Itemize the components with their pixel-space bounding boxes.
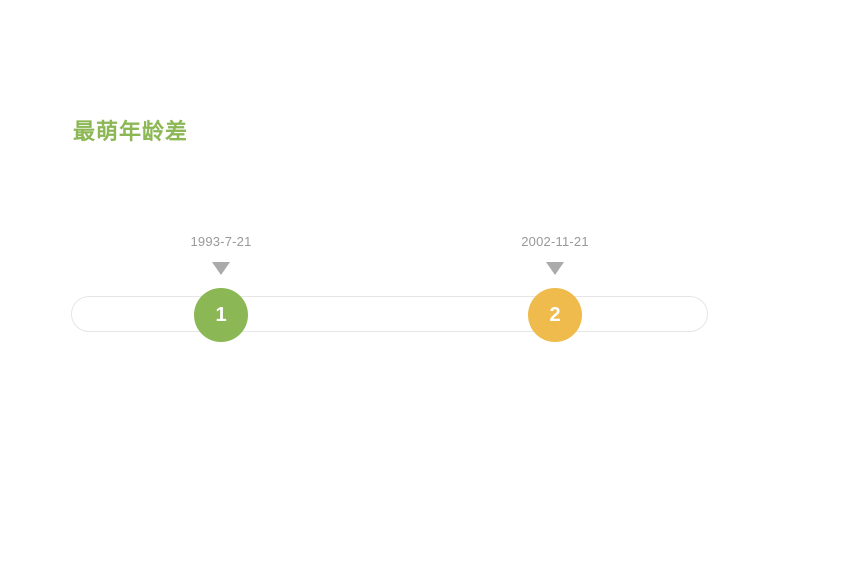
timeline-marker-2-dot[interactable]: 2 [528,288,582,342]
timeline-marker-2-date: 2002-11-21 [521,234,589,250]
timeline-marker-1-dot[interactable]: 1 [194,288,248,342]
chart-canvas: 最萌年龄差 1993-7-21 1 2002-11-21 2 [0,0,848,571]
timeline: 1993-7-21 1 2002-11-21 2 [0,0,848,571]
timeline-track [71,296,708,332]
triangle-down-icon [212,262,230,275]
triangle-down-icon [546,262,564,275]
timeline-marker-1-date: 1993-7-21 [190,234,251,250]
